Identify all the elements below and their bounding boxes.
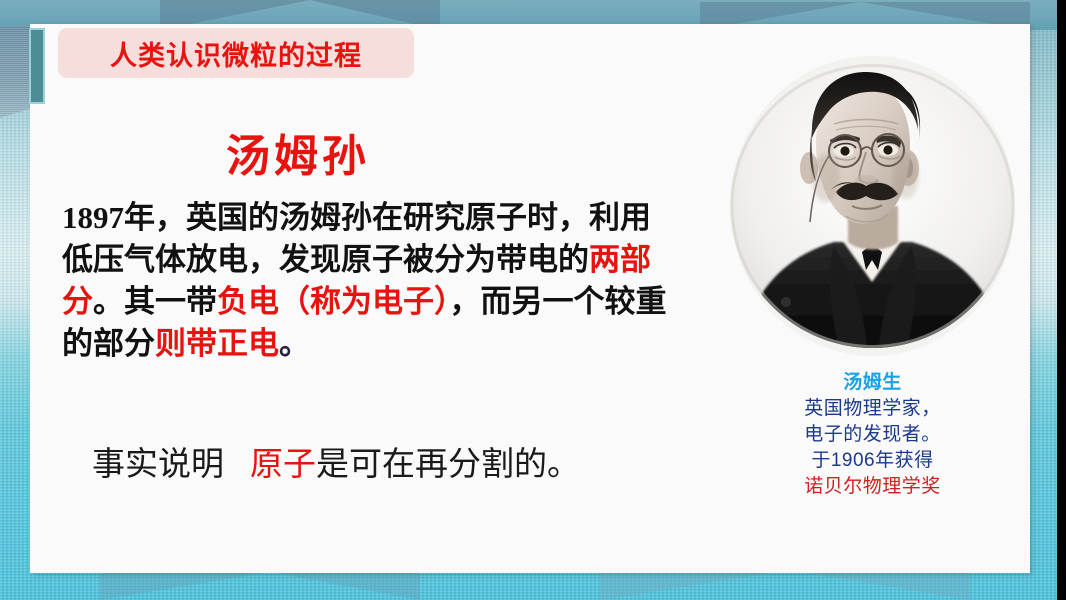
conclusion-line: 事实说明原子是可在再分割的。	[92, 437, 580, 485]
portrait-thomson	[730, 56, 1015, 356]
background-mountain-shape	[100, 572, 270, 600]
body-paragraph: 1897年，英国的汤姆孙在研究原子时， 利用低压气体放电，发现原子被分为 带电的…	[62, 197, 680, 365]
caption-line-4: 诺贝尔物理学奖	[730, 474, 1015, 500]
body-final-period: 。	[279, 326, 310, 361]
title-accent-bar	[29, 28, 45, 104]
body-highlight-electron-close: 子）	[403, 284, 450, 319]
caption-line-3: 于1906年获得	[730, 448, 1015, 474]
slide-root: 人类认识微粒的过程 汤姆孙 1897年，英国的汤姆孙在研究原子时， 利用低压气体…	[0, 0, 1066, 600]
body-line-3-plain-a: 带电的	[496, 242, 589, 277]
body-highlight-positive-charge: 则带正电	[155, 326, 279, 361]
right-edge-bar	[1057, 0, 1066, 600]
body-line-1: 1897年，英国的汤姆孙在研究原子时，	[62, 200, 589, 235]
background-mountain-shape	[790, 570, 970, 600]
conclusion-suffix: 是可在再分割的。	[316, 445, 580, 482]
background-mountain-shape	[600, 570, 790, 600]
caption-line-1: 英国物理学家，	[730, 396, 1015, 422]
caption-line-2: 电子的发现者。	[730, 422, 1015, 448]
body-line-3-plain-b: 。其一带	[93, 284, 217, 319]
page-title: 人类认识微粒的过程	[110, 34, 362, 73]
portrait-image	[730, 56, 1015, 356]
background-mountain-shape	[270, 572, 420, 600]
title-badge: 人类认识微粒的过程	[58, 28, 414, 78]
headline-scientist-name: 汤姆孙	[226, 120, 370, 184]
conclusion-highlight-atom: 原子	[250, 445, 316, 482]
body-highlight-negative-charge: 负电（称为电	[217, 284, 403, 319]
conclusion-prefix: 事实说明	[92, 445, 224, 482]
caption-name: 汤姆生	[730, 370, 1015, 396]
portrait-caption: 汤姆生 英国物理学家， 电子的发现者。 于1906年获得 诺贝尔物理学奖	[730, 370, 1015, 500]
